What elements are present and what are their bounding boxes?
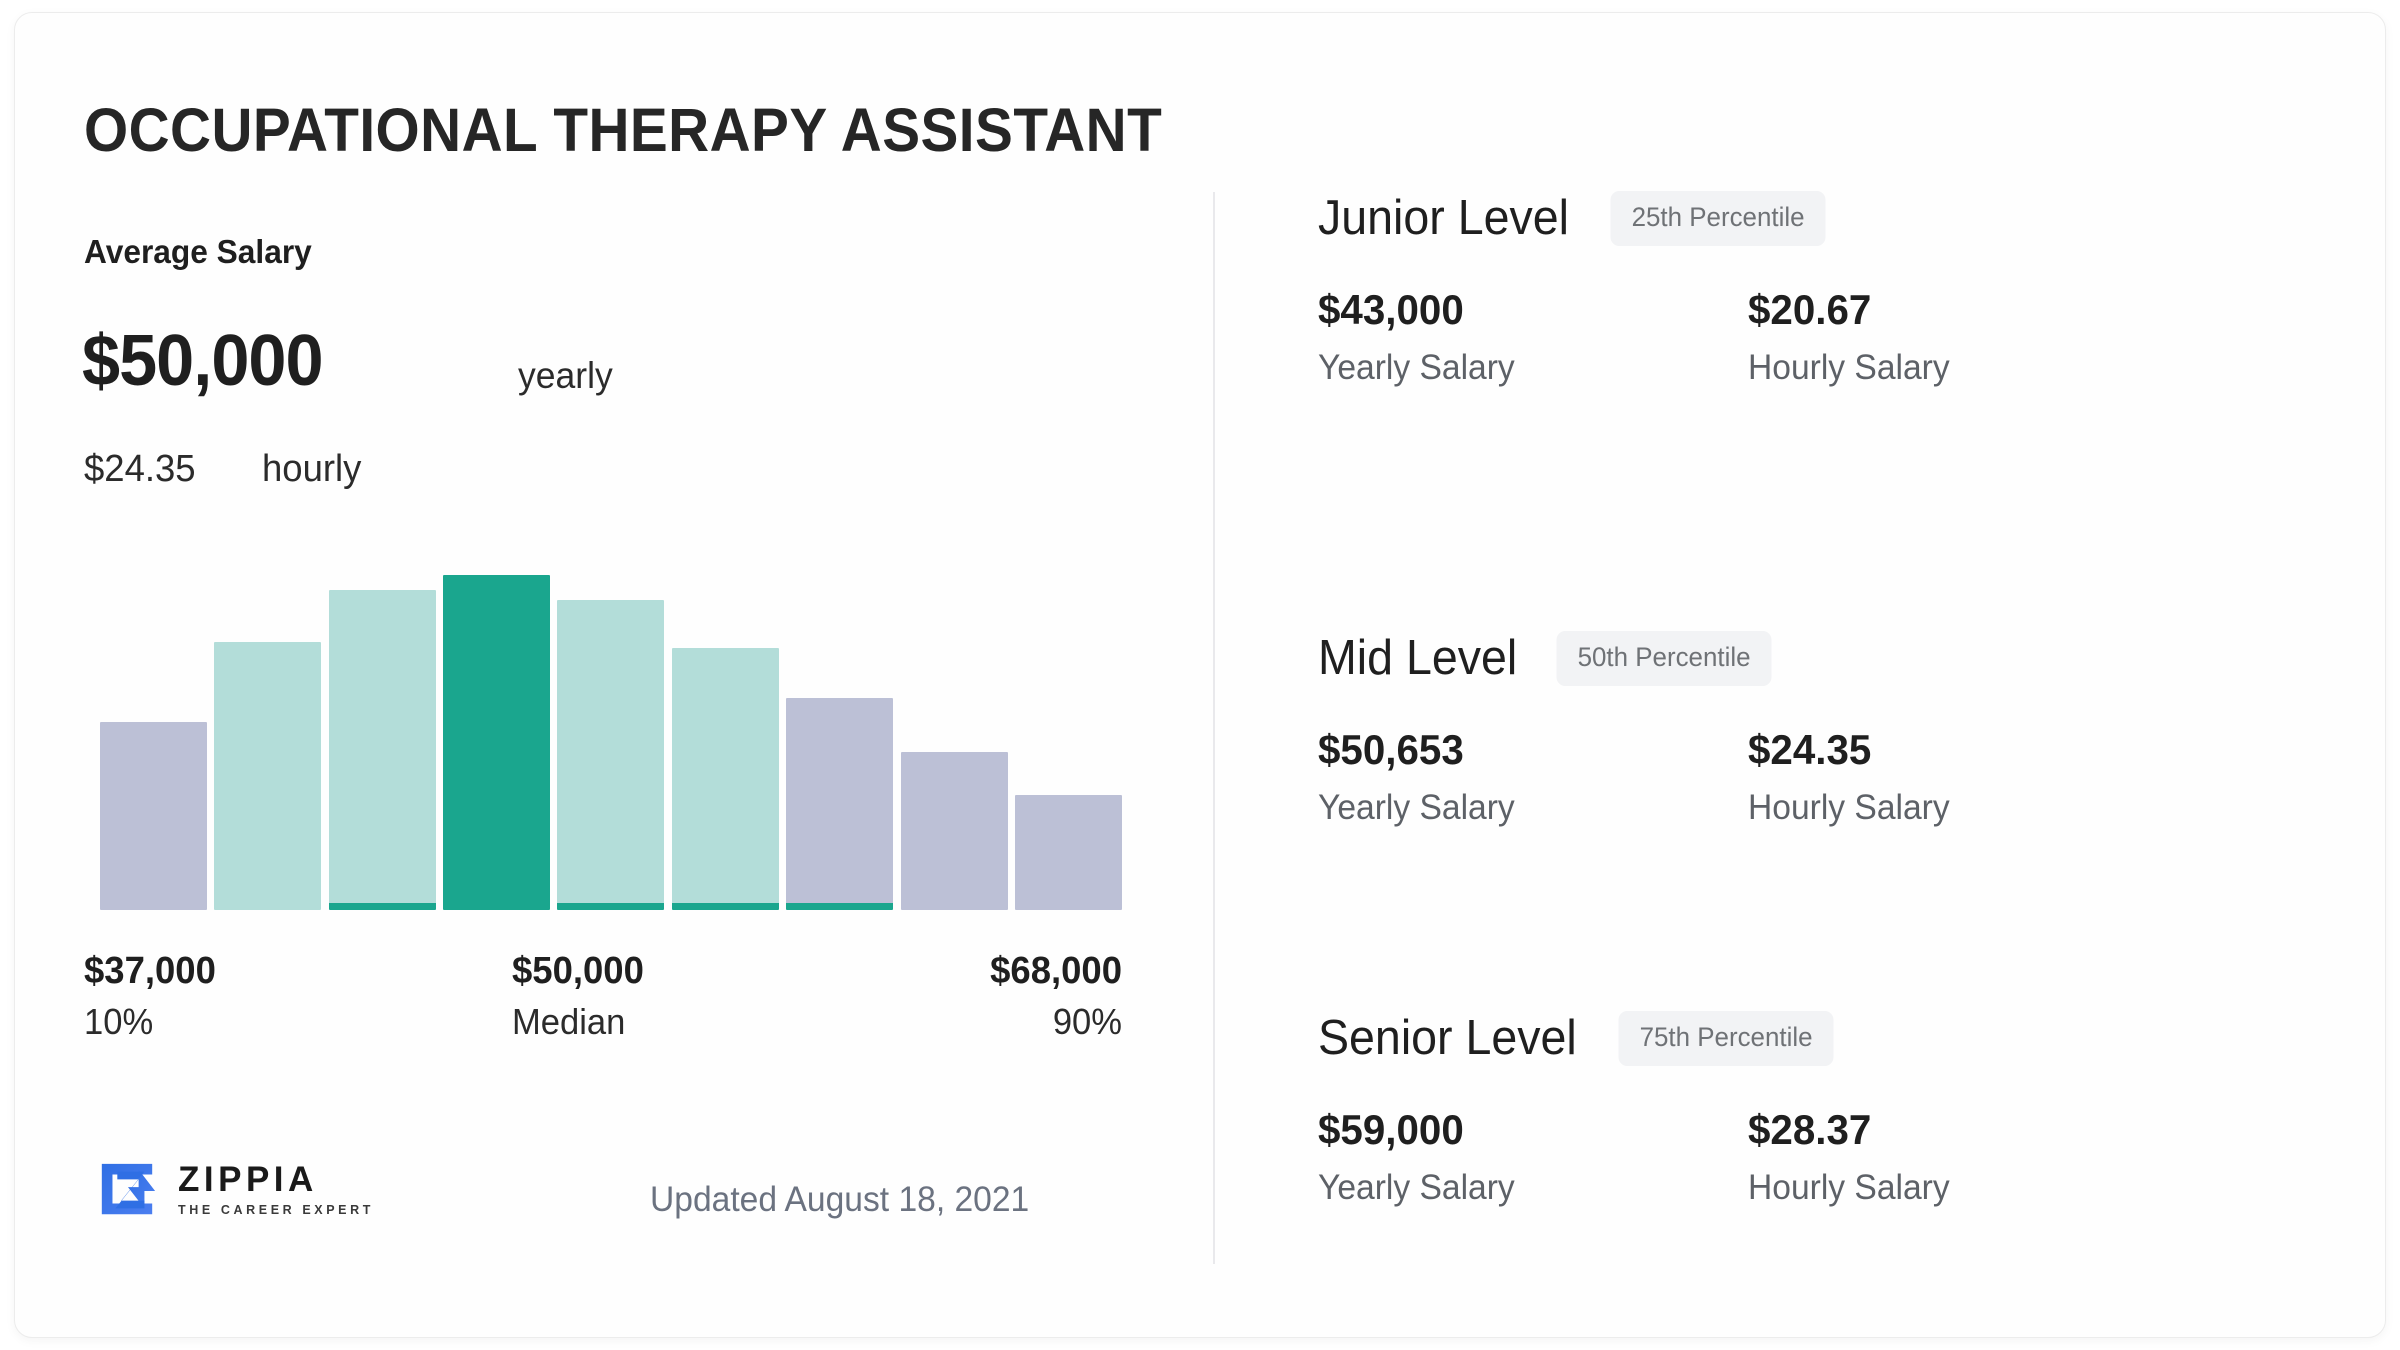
level-block-junior: Junior Level25th Percentile$43,000Yearly… [1318, 190, 2338, 388]
stat-label-yearly: Yearly Salary [1318, 1168, 1731, 1208]
stat-value-hourly: $24.35 [1748, 726, 2161, 774]
axis-label-10th: $37,000 10% [84, 950, 221, 1044]
brand-tagline: THE CAREER EXPERT [178, 1204, 374, 1217]
chart-bar [1015, 795, 1122, 910]
chart-bar [672, 648, 779, 910]
level-header: Junior Level25th Percentile [1318, 190, 2338, 246]
axis-label-median: $50,000 Median [512, 950, 649, 1044]
percentile-badge: 25th Percentile [1611, 191, 1826, 246]
stat-value-yearly: $50,653 [1318, 726, 1731, 774]
average-hourly-unit: hourly [262, 448, 361, 491]
level-block-mid: Mid Level50th Percentile$50,653Yearly Sa… [1318, 630, 2338, 828]
average-hourly-amount: $24.35 [84, 448, 196, 491]
stat-hourly: $20.67Hourly Salary [1748, 286, 2178, 388]
stat-label-hourly: Hourly Salary [1748, 1168, 2161, 1208]
stat-yearly: $50,653Yearly Salary [1318, 726, 1748, 828]
chart-bar [901, 752, 1008, 910]
chart-axis-labels: $37,000 10% $50,000 Median $68,000 90% [84, 950, 1119, 1060]
chart-bar-slot [439, 570, 553, 910]
stat-hourly: $28.37Hourly Salary [1748, 1106, 2178, 1208]
stat-label-hourly: Hourly Salary [1748, 788, 2161, 828]
axis-sub-median: Median [512, 999, 644, 1044]
level-title: Junior Level [1318, 190, 1569, 246]
level-title: Senior Level [1318, 1010, 1577, 1066]
axis-value-high: $68,000 [863, 950, 1122, 993]
average-yearly-unit: yearly [518, 355, 613, 397]
chart-bar [214, 642, 321, 910]
average-salary-panel: Average Salary $50,000 yearly $24.35 hou… [0, 0, 1213, 1350]
chart-bar-median [443, 575, 550, 910]
axis-value-median: $50,000 [512, 950, 644, 993]
chart-bar-slot [210, 570, 324, 910]
level-block-senior: Senior Level75th Percentile$59,000Yearly… [1318, 1010, 2338, 1208]
brand-name: ZIPPIA [178, 1162, 374, 1197]
chart-bar-slot [783, 570, 897, 910]
stat-value-hourly: $28.37 [1748, 1106, 2161, 1154]
axis-label-90th: $68,000 90% [852, 950, 1122, 1044]
stat-value-yearly: $59,000 [1318, 1106, 1731, 1154]
experience-levels-panel: Junior Level25th Percentile$43,000Yearly… [1213, 0, 2400, 1350]
axis-value-low: $37,000 [84, 950, 216, 993]
average-yearly-amount: $50,000 [82, 320, 323, 402]
zippia-z-logo-icon [96, 1158, 158, 1220]
stat-label-yearly: Yearly Salary [1318, 348, 1731, 388]
stat-yearly: $43,000Yearly Salary [1318, 286, 1748, 388]
updated-date: Updated August 18, 2021 [650, 1180, 1029, 1220]
axis-sub-low: 10% [84, 999, 216, 1044]
chart-bar-slot [325, 570, 439, 910]
salary-infographic-card: OCCUPATIONAL THERAPY ASSISTANT Average S… [0, 0, 2400, 1350]
salary-distribution-chart [96, 570, 1126, 910]
level-stats: $59,000Yearly Salary$28.37Hourly Salary [1318, 1106, 2338, 1208]
average-salary-label: Average Salary [84, 233, 312, 271]
stat-value-yearly: $43,000 [1318, 286, 1731, 334]
brand-text-block: ZIPPIA THE CAREER EXPERT [178, 1162, 374, 1217]
stat-label-hourly: Hourly Salary [1748, 348, 2161, 388]
level-stats: $43,000Yearly Salary$20.67Hourly Salary [1318, 286, 2338, 388]
chart-bar [557, 600, 664, 910]
chart-bar-slot [1012, 570, 1126, 910]
level-stats: $50,653Yearly Salary$24.35Hourly Salary [1318, 726, 2338, 828]
percentile-badge: 75th Percentile [1619, 1011, 1834, 1066]
percentile-badge: 50th Percentile [1556, 631, 1771, 686]
zippia-brand[interactable]: ZIPPIA THE CAREER EXPERT [96, 1158, 374, 1220]
chart-bar [100, 722, 207, 910]
stat-value-hourly: $20.67 [1748, 286, 2161, 334]
axis-sub-high: 90% [863, 999, 1122, 1044]
level-header: Mid Level50th Percentile [1318, 630, 2338, 686]
chart-bar [786, 698, 893, 910]
stat-yearly: $59,000Yearly Salary [1318, 1106, 1748, 1208]
level-header: Senior Level75th Percentile [1318, 1010, 2338, 1066]
stat-hourly: $24.35Hourly Salary [1748, 726, 2178, 828]
stat-label-yearly: Yearly Salary [1318, 788, 1731, 828]
level-title: Mid Level [1318, 630, 1517, 686]
chart-bar [329, 590, 436, 910]
chart-bar-slot [554, 570, 668, 910]
chart-bar-slot [897, 570, 1011, 910]
chart-bar-slot [668, 570, 782, 910]
chart-bar-slot [96, 570, 210, 910]
